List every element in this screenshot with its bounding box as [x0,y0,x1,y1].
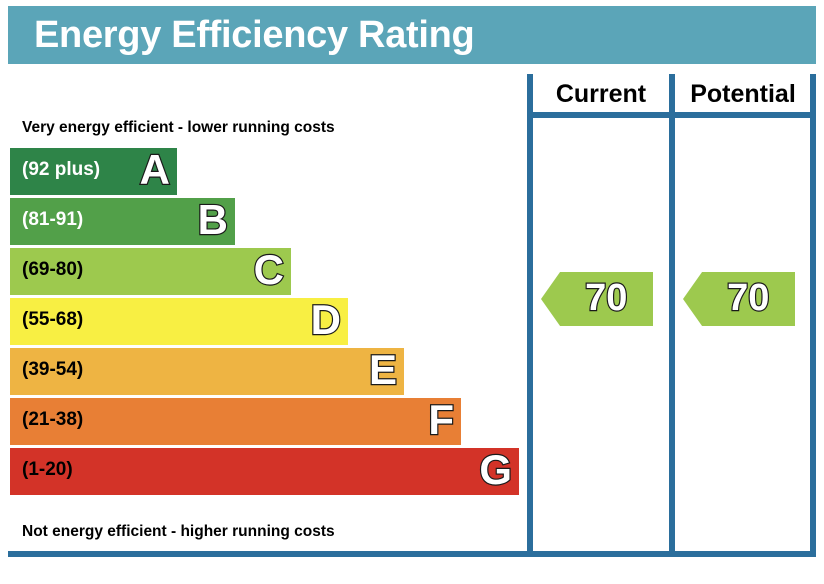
band-letter-b: B [198,194,228,246]
band-letter-f: F [428,394,454,446]
caption-not-efficient: Not energy efficient - higher running co… [22,523,335,541]
potential-rating-marker: 70 [683,272,795,326]
band-row-f: (21-38) F [10,398,461,445]
column-divider-left [527,74,533,551]
band-letter-a: A [140,144,170,196]
band-range-e: (39-54) [22,359,83,381]
column-header-potential: Potential [675,80,811,110]
band-range-a: (92 plus) [22,159,100,181]
band-row-e: (39-54) E [10,348,404,395]
band-letter-e: E [369,344,397,396]
band-row-b: (81-91) B [10,198,235,245]
potential-rating-value: 70 [708,272,789,326]
column-divider-middle [669,74,675,551]
band-letter-c: C [254,244,284,296]
caption-very-efficient: Very energy efficient - lower running co… [22,119,335,137]
energy-efficiency-rating-chart: Energy Efficiency Rating Current Potenti… [0,0,824,584]
band-range-b: (81-91) [22,209,83,231]
band-letter-g: G [479,444,512,496]
potential-header-underline [669,112,816,118]
current-rating-marker: 70 [541,272,653,326]
band-row-a: (92 plus) A [10,148,177,195]
current-header-underline [527,112,675,118]
column-header-current: Current [533,80,669,110]
band-range-c: (69-80) [22,259,83,281]
chart-header-bar: Energy Efficiency Rating [8,6,816,64]
band-row-d: (55-68) D [10,298,348,345]
band-range-f: (21-38) [22,409,83,431]
page-title: Energy Efficiency Rating [34,14,474,57]
column-divider-right [810,74,816,551]
chart-bottom-rule [8,551,816,557]
current-rating-value: 70 [566,272,647,326]
band-letter-d: D [311,294,341,346]
band-row-c: (69-80) C [10,248,291,295]
band-range-g: (1-20) [22,459,73,481]
band-row-g: (1-20) G [10,448,519,495]
band-range-d: (55-68) [22,309,83,331]
